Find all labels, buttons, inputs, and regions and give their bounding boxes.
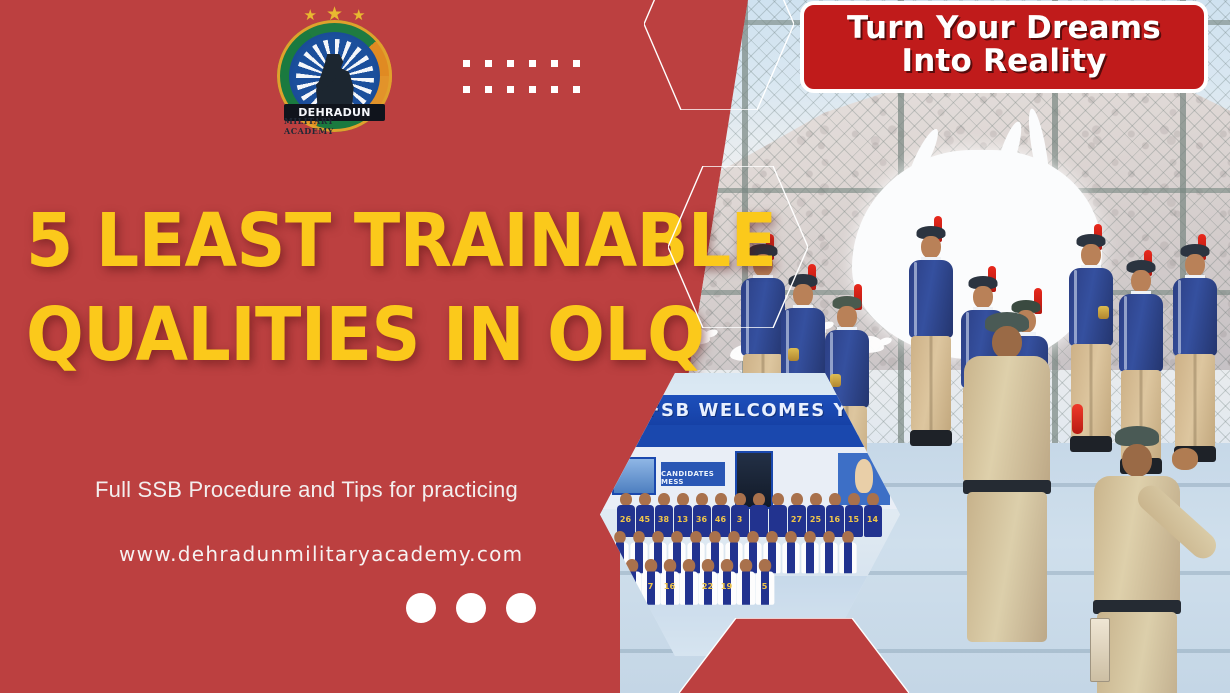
member-number: 13 xyxy=(677,515,688,524)
cadet xyxy=(908,218,954,448)
callout-plate: Turn Your Dreams Into Reality xyxy=(800,1,1208,93)
member-vest xyxy=(839,543,856,574)
circle-dot xyxy=(406,593,436,623)
star-icon-right: ★ xyxy=(352,8,365,23)
dot xyxy=(507,86,514,93)
member-number: 36 xyxy=(696,515,707,524)
officer-head xyxy=(1122,444,1152,477)
circle-dot xyxy=(456,593,486,623)
hex-parapet xyxy=(600,435,900,447)
star-icon-center: ★ xyxy=(326,5,343,24)
cadet-torso xyxy=(1119,294,1163,372)
member-number: 27 xyxy=(791,515,802,524)
decorative-circles xyxy=(406,593,536,623)
cadet-boots xyxy=(910,430,952,446)
member-number: 16 xyxy=(829,515,840,524)
member-vest xyxy=(736,571,755,604)
beret-plume xyxy=(1072,404,1083,434)
cadet-torso xyxy=(909,260,953,338)
dot xyxy=(529,60,536,67)
member-vest xyxy=(782,543,799,574)
officer-hand xyxy=(1172,448,1198,470)
dot xyxy=(507,60,514,67)
member-number: 3 xyxy=(737,515,743,524)
dot xyxy=(463,86,470,93)
banner-root: Turn Your Dreams Into Reality 1 AFSB WEL… xyxy=(0,0,1230,693)
officer-body xyxy=(964,356,1050,488)
member-number: 15 xyxy=(848,515,859,524)
dot xyxy=(573,86,580,93)
cadet-head xyxy=(1081,244,1101,267)
website-url: www.dehradunmilitaryacademy.com xyxy=(119,542,523,566)
officer-head xyxy=(992,326,1022,359)
member-number: 46 xyxy=(715,515,726,524)
circle-dot xyxy=(506,593,536,623)
hex-red-outline xyxy=(679,618,909,693)
dot xyxy=(485,86,492,93)
candidates-mess-text: CANDIDATES MESS xyxy=(661,470,725,486)
hex-outline-mid xyxy=(668,166,808,328)
member-vest xyxy=(679,571,698,604)
officer-foreground xyxy=(952,312,1062,693)
hex-window xyxy=(612,457,656,495)
dot xyxy=(529,86,536,93)
member-vest xyxy=(801,543,818,574)
subtitle-text: Full SSB Procedure and Tips for practici… xyxy=(95,477,518,503)
member-number: 25 xyxy=(810,515,821,524)
star-icon-left: ★ xyxy=(304,8,317,23)
member-number: 19 xyxy=(721,582,733,591)
member-number: 22 xyxy=(702,582,714,591)
cadet-head xyxy=(973,286,993,309)
headline-block: 5 LEAST TRAINABLE QUALITIES IN OLQ xyxy=(26,206,676,372)
cadet-badge xyxy=(830,374,841,387)
member-number: 26 xyxy=(620,515,631,524)
cadet-badge xyxy=(1098,306,1109,319)
member-number: 5 xyxy=(762,582,768,591)
member-number: 7 xyxy=(648,582,654,591)
academy-logo: ★ ★ ★ DEHRADUN MILITARY ACADEMY xyxy=(272,8,397,133)
afsb-welcome-text: 1 AFSB WELCOMES Y xyxy=(610,400,848,421)
cadet-head xyxy=(837,306,857,329)
cadet-legs xyxy=(911,336,951,432)
cadet-badge xyxy=(788,348,799,361)
member-vest xyxy=(820,543,837,574)
member-number: 14 xyxy=(867,515,878,524)
hex-outline-top xyxy=(644,0,794,110)
dot xyxy=(551,60,558,67)
cadet-head xyxy=(1131,270,1151,293)
officer-cap xyxy=(1115,426,1159,446)
decorative-dot-grid xyxy=(463,60,595,112)
member-number: 38 xyxy=(658,515,669,524)
candidates-mess-sign: CANDIDATES MESS xyxy=(660,461,726,487)
logo-subtitle-wrap: MILITARY ACADEMY xyxy=(284,120,385,132)
dot xyxy=(485,60,492,67)
dot xyxy=(573,60,580,67)
cadet-head xyxy=(1185,254,1205,277)
headline-line-2: QUALITIES IN OLQ xyxy=(26,300,689,372)
cadet-head xyxy=(921,236,941,259)
headline-line-1: 5 LEAST TRAINABLE xyxy=(26,206,689,278)
logo-stars: ★ ★ ★ xyxy=(272,8,397,30)
dot xyxy=(463,60,470,67)
logo-subtitle: MILITARY ACADEMY xyxy=(284,116,385,136)
member-number: 45 xyxy=(639,515,650,524)
cadet-torso xyxy=(1173,278,1217,356)
callout-plate-text: Turn Your Dreams Into Reality xyxy=(816,12,1192,79)
officer-legs xyxy=(967,492,1047,642)
officer-file xyxy=(1090,618,1110,682)
officer-saluting xyxy=(1072,404,1202,693)
member-number: 16 xyxy=(664,582,676,591)
dot xyxy=(551,86,558,93)
